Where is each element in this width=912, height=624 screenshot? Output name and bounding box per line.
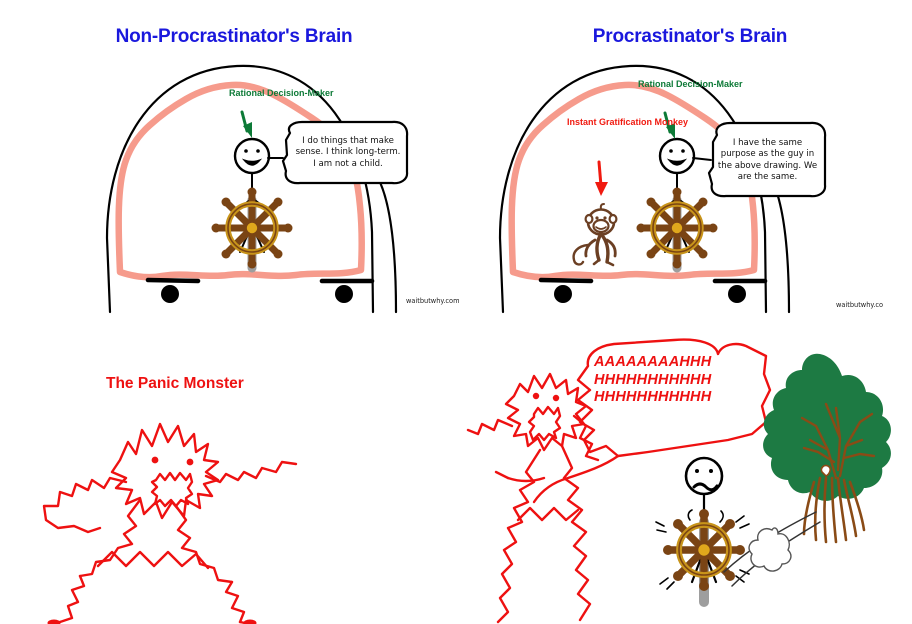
ships-wheel <box>637 188 718 269</box>
page-title-panic-monster: The Panic Monster <box>106 375 244 393</box>
panic-monster <box>44 424 296 624</box>
monkey-motion-puff <box>749 528 791 571</box>
eyebrow-left <box>541 280 591 281</box>
scream-bubble-tail <box>534 456 618 502</box>
panel-non-procrastinator-brain: Non-Procrastinator's Brain <box>0 0 468 330</box>
scream-speech-bubble-text: AAAAAAAAHHH HHHHHHHHHHH HHHHHHHHHHH <box>594 354 764 407</box>
tree <box>763 354 891 542</box>
stick-figure-head <box>235 139 269 173</box>
monster-left-hand <box>48 620 61 624</box>
stick-figure-arm-right <box>693 158 711 160</box>
ships-wheel <box>212 188 293 269</box>
procrastinator-artwork <box>468 0 912 330</box>
watermark-right: waitbutwhy.co <box>836 301 883 309</box>
monster-right-hand <box>244 620 257 624</box>
panel-panic-scene: AAAAAAAAHHH HHHHHHHHHHH HHHHHHHHHHH <box>468 330 912 624</box>
stick-figure-eye-left <box>244 149 248 153</box>
stick-figure-eye-left <box>669 149 673 153</box>
stick-figure-head <box>660 139 694 173</box>
stick-figure-eye-right <box>256 149 260 153</box>
ships-wheel-spinning <box>656 509 749 591</box>
eye-right <box>728 285 746 303</box>
watermark-left: waitbutwhy.com <box>406 297 460 305</box>
scared-figure-eye-left <box>695 469 699 473</box>
label-instant-gratification-monkey: Instant Gratification Monkey <box>567 117 637 128</box>
speech-bubble-text: I do things that make sense. I think lon… <box>288 136 408 170</box>
green-down-arrow <box>242 112 252 138</box>
eye-left <box>161 285 179 303</box>
monkey <box>574 204 617 265</box>
red-down-arrow <box>595 162 608 196</box>
scared-figure-eye-right <box>709 469 713 473</box>
label-rational-decision-maker: Rational Decision-Maker <box>229 88 304 99</box>
stick-figure-eye-right <box>681 149 685 153</box>
eye-left <box>554 285 572 303</box>
skull-right-edge <box>378 178 396 312</box>
eye-right <box>335 285 353 303</box>
label-rational-decision-maker: Rational Decision-Maker <box>638 79 713 90</box>
panel-procrastinator-brain: Procrastinator's Brain <box>468 0 912 330</box>
panic-monster-arms-up <box>468 374 598 622</box>
speech-bubble-text: I have the same purpose as the guy in th… <box>712 138 823 184</box>
eyebrow-left <box>148 280 198 281</box>
skull-right-edge <box>771 178 789 312</box>
